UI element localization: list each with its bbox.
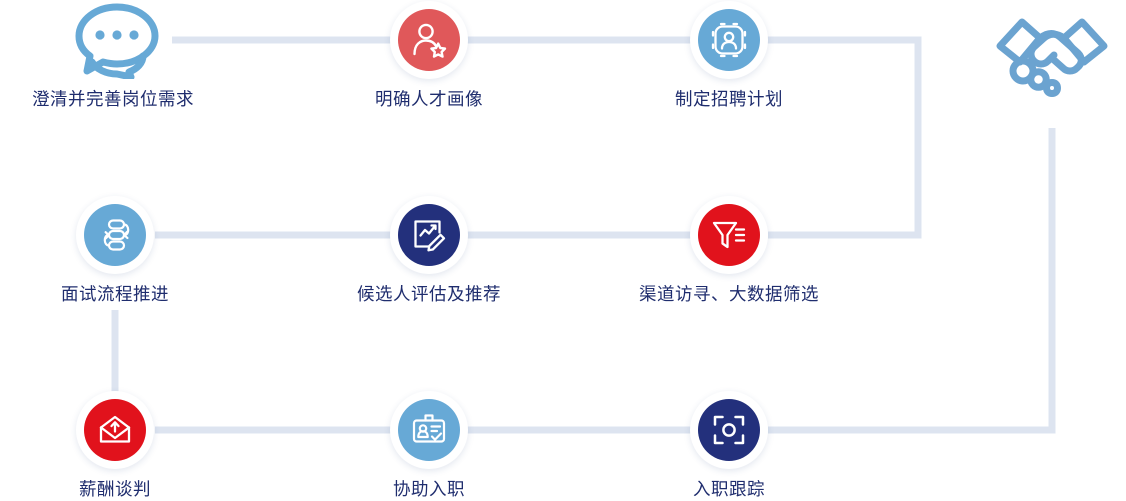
recruitment-process-flowchart: 澄清并完善岗位需求 明确人才画像: [0, 0, 1126, 501]
handshake-decoration: [952, 8, 1126, 100]
clipboard-edit-icon: [410, 216, 448, 254]
node-icon-ring: [76, 391, 154, 469]
node-label: 明确人才画像: [329, 88, 529, 110]
node-icon-disc: [698, 9, 760, 71]
node-icon-disc: [398, 204, 460, 266]
node-icon-ring: [390, 196, 468, 274]
process-node-onboarding-assist[interactable]: 协助入职: [329, 391, 529, 500]
person-frame-icon: [710, 21, 748, 59]
focus-target-icon: [710, 411, 748, 449]
process-node-candidate-evaluation[interactable]: 候选人评估及推荐: [329, 196, 529, 305]
process-node-onboarding-tracking[interactable]: 入职跟踪: [629, 391, 829, 500]
envelope-up-icon: [96, 411, 134, 449]
person-star-icon: [410, 21, 448, 59]
node-icon-ring: [390, 1, 468, 79]
node-icon-disc: [84, 204, 146, 266]
node-label: 候选人评估及推荐: [329, 283, 529, 305]
node-icon-ring: [74, 1, 152, 79]
node-label: 面试流程推进: [15, 283, 215, 305]
node-label: 渠道访寻、大数据筛选: [629, 283, 829, 305]
node-label: 协助入职: [329, 478, 529, 500]
node-icon-disc: [698, 399, 760, 461]
process-node-recruitment-plan[interactable]: 制定招聘计划: [629, 1, 829, 110]
funnel-icon: [710, 216, 748, 254]
process-node-channel-sourcing[interactable]: 渠道访寻、大数据筛选: [629, 196, 829, 305]
node-icon-ring: [690, 196, 768, 274]
node-icon-disc: [698, 204, 760, 266]
node-icon-ring: [690, 1, 768, 79]
node-icon-disc: [84, 399, 146, 461]
node-icon-disc: [398, 9, 460, 71]
process-node-salary-negotiation[interactable]: 薪酬谈判: [15, 391, 215, 500]
node-icon-ring: [690, 391, 768, 469]
node-label: 入职跟踪: [629, 478, 829, 500]
process-node-talent-profile[interactable]: 明确人才画像: [329, 1, 529, 110]
node-icon-ring: [390, 391, 468, 469]
workflow-icon: [96, 216, 134, 254]
node-icon-ring: [76, 196, 154, 274]
node-icon-disc: [398, 399, 460, 461]
node-label: 澄清并完善岗位需求: [13, 88, 213, 110]
id-badge-check-icon: [410, 411, 448, 449]
node-label: 薪酬谈判: [15, 478, 215, 500]
node-icon-disc: [65, 1, 161, 79]
handshake-icon: [994, 8, 1110, 100]
node-label: 制定招聘计划: [629, 88, 829, 110]
chat-bubbles-icon: [65, 1, 161, 79]
process-node-clarify-requirements[interactable]: 澄清并完善岗位需求: [13, 1, 213, 110]
process-node-interview-progress[interactable]: 面试流程推进: [15, 196, 215, 305]
